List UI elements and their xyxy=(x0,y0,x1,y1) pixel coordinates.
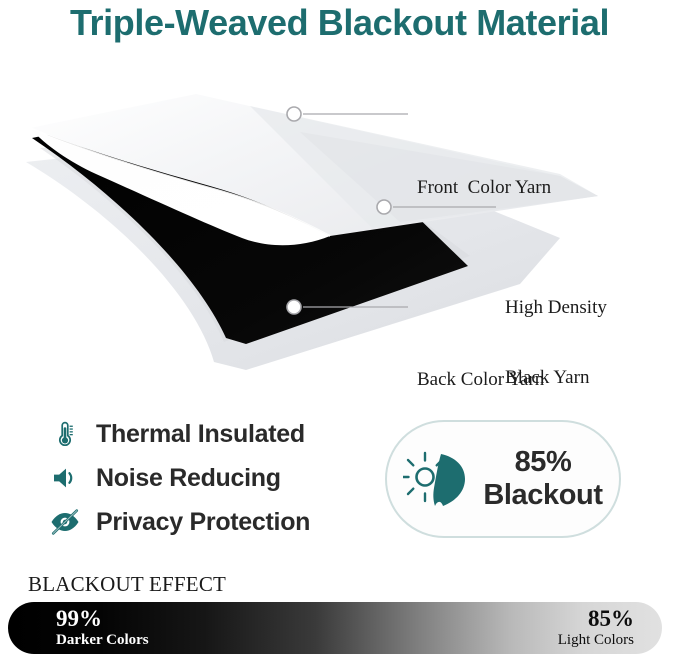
feature-thermal-insulated: Thermal Insulated xyxy=(48,412,368,456)
callout-label-high-density-black-yarn: High Density Black Yarn xyxy=(505,250,607,435)
blackout-badge: 85% Blackout xyxy=(385,420,621,538)
callout-label-line1: High Density xyxy=(505,296,607,319)
feature-privacy-protection: Privacy Protection xyxy=(48,500,368,544)
blackout-badge-text: 85% Blackout xyxy=(483,446,602,512)
blackout-effect-gradient-bar: 99% Darker Colors 85% Light Colors xyxy=(8,602,662,654)
feature-list: Thermal Insulated Noise Reducing Privacy… xyxy=(48,412,368,544)
blackout-label: Blackout xyxy=(483,479,602,511)
callout-dot-front xyxy=(287,107,301,121)
effect-light-colors: 85% Light Colors xyxy=(558,606,634,648)
feature-label: Noise Reducing xyxy=(96,464,281,493)
blackout-percent: 85% xyxy=(515,446,572,478)
sun-blocked-icon xyxy=(403,444,477,514)
callout-dot-back xyxy=(287,300,301,314)
page-title: Triple-Weaved Blackout Material xyxy=(0,2,679,44)
blackout-effect-heading: BLACKOUT EFFECT xyxy=(28,572,226,597)
fabric-layers-diagram: Front Color Yarn High Density Black Yarn… xyxy=(0,70,679,400)
callout-label-back-color-yarn: Back Color Yarn xyxy=(417,368,544,391)
effect-light-percent: 85% xyxy=(558,606,634,632)
eye-off-icon xyxy=(48,505,82,539)
effect-darker-label: Darker Colors xyxy=(56,632,149,649)
feature-noise-reducing: Noise Reducing xyxy=(48,456,368,500)
effect-darker-percent: 99% xyxy=(56,606,149,632)
feature-label: Thermal Insulated xyxy=(96,420,305,449)
effect-darker-colors: 99% Darker Colors xyxy=(56,606,149,648)
callout-label-front-color-yarn: Front Color Yarn xyxy=(417,176,551,199)
feature-label: Privacy Protection xyxy=(96,508,310,537)
effect-light-label: Light Colors xyxy=(558,632,634,649)
thermometer-icon xyxy=(48,417,82,451)
callout-dot-middle xyxy=(377,200,391,214)
speaker-icon xyxy=(48,461,82,495)
